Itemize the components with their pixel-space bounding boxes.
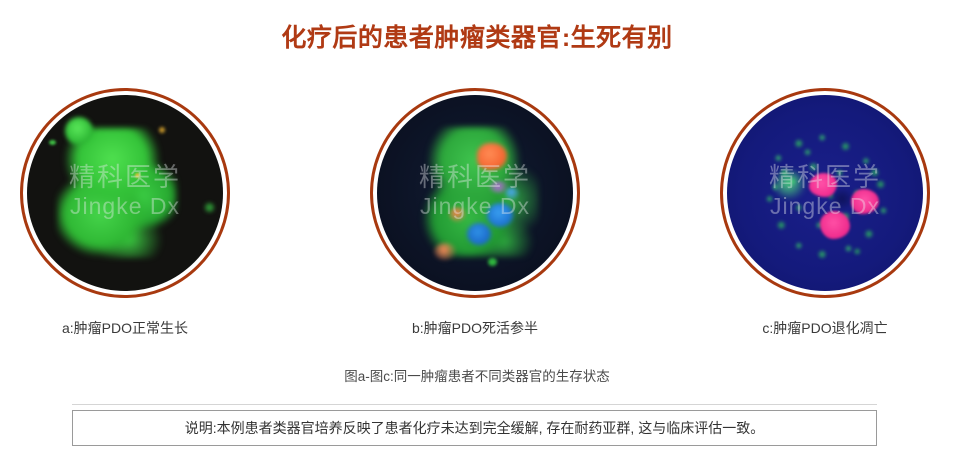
micrograph-image-b: 精科医学 Jingke Dx [377, 95, 573, 291]
horizontal-divider [72, 404, 877, 405]
organoid-bud-icon [65, 117, 93, 145]
apoptotic-focus-icon [809, 173, 837, 197]
panel-caption-c: c:肿瘤PDO退化凋亡 [705, 318, 945, 338]
dead-cell-focus-icon [434, 243, 456, 260]
panel-b: 精科医学 Jingke Dx b:肿瘤PDO死活参半 [355, 88, 595, 338]
organoid-remnant-icon [775, 171, 805, 199]
nucleus-stain-icon [505, 187, 519, 200]
note-box: 说明:本例患者类器官培养反映了患者化疗未达到完全缓解, 存在耐药亚群, 这与临床… [72, 410, 877, 446]
panel-caption-a: a:肿瘤PDO正常生长 [5, 318, 245, 338]
signal-fleck-icon [205, 203, 214, 212]
dead-cell-focus-icon [449, 207, 466, 222]
note-text: 说明:本例患者类器官培养反映了患者化疗未达到完全缓解, 存在耐药亚群, 这与临床… [185, 418, 764, 438]
panel-c: 精科医学 Jingke Dx c:肿瘤PDO退化凋亡 [705, 88, 945, 338]
signal-fleck-icon [135, 173, 140, 178]
micrograph-panel-row: 精科医学 Jingke Dx a:肿瘤PDO正常生长 精科医学 J [0, 88, 954, 338]
signal-fleck-icon [488, 258, 497, 266]
figure-legend: 图a-图c:同一肿瘤患者不同类器官的生存状态 [0, 365, 954, 385]
signal-fleck-icon [159, 127, 165, 133]
nucleus-stain-icon [487, 203, 513, 227]
signal-fleck-icon [49, 140, 56, 145]
micrograph-ring-c: 精科医学 Jingke Dx [720, 88, 930, 298]
apoptotic-focus-icon [820, 211, 850, 239]
organoid-blob-icon [57, 128, 177, 258]
page-title: 化疗后的患者肿瘤类器官:生死有别 [0, 18, 954, 54]
micrograph-image-c: 精科医学 Jingke Dx [727, 95, 923, 291]
micrograph-ring-b: 精科医学 Jingke Dx [370, 88, 580, 298]
panel-a: 精科医学 Jingke Dx a:肿瘤PDO正常生长 [5, 88, 245, 338]
panel-caption-b: b:肿瘤PDO死活参半 [355, 318, 595, 338]
micrograph-image-a: 精科医学 Jingke Dx [27, 95, 223, 291]
micrograph-ring-a: 精科医学 Jingke Dx [20, 88, 230, 298]
nucleus-stain-icon [467, 223, 491, 245]
